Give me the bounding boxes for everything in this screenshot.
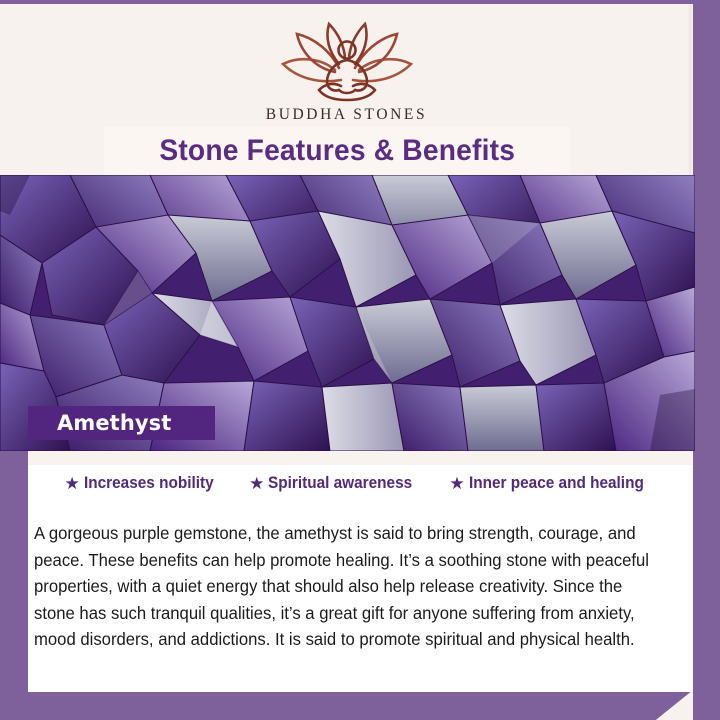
stone-name-bar: Amethyst xyxy=(28,406,215,440)
stone-description: A gorgeous purple gemstone, the amethyst… xyxy=(34,520,667,653)
benefit-item: ★ Inner peace and healing xyxy=(449,474,656,493)
content-panel: ★ Increases nobility ★ Spiritual awarene… xyxy=(28,451,693,692)
benefit-label: Increases nobility xyxy=(84,474,214,493)
star-icon: ★ xyxy=(64,475,79,492)
product-infographic: BUDDHA STONES Stone Features & Benefits xyxy=(0,0,720,720)
panel-top-tint xyxy=(28,451,693,465)
title-band: Stone Features & Benefits xyxy=(104,127,570,175)
page-title: Stone Features & Benefits xyxy=(159,134,515,168)
star-icon: ★ xyxy=(449,475,464,492)
star-icon: ★ xyxy=(249,475,264,492)
brand-name: BUDDHA STONES xyxy=(0,106,693,124)
frame-right-band xyxy=(693,0,720,720)
benefit-item: ★ Increases nobility xyxy=(64,474,223,493)
frame-bottom-band xyxy=(0,692,720,720)
benefits-list: ★ Increases nobility ★ Spiritual awarene… xyxy=(28,465,693,501)
benefit-label: Spiritual awareness xyxy=(268,474,412,493)
benefit-item: ★ Spiritual awareness xyxy=(249,474,423,493)
lotus-meditation-icon xyxy=(0,20,693,102)
stone-name-label: Amethyst xyxy=(28,411,171,435)
benefit-label: Inner peace and healing xyxy=(469,474,644,493)
brand-logo: BUDDHA STONES xyxy=(0,20,693,124)
